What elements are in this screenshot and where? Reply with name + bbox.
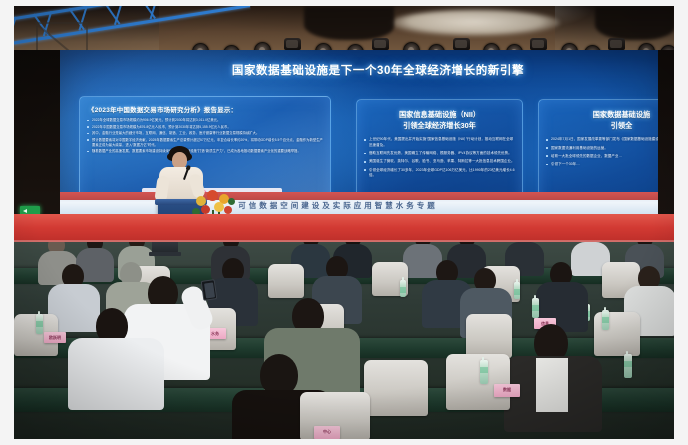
panel-right-title: 国家数据基础设施 引领全: [545, 109, 674, 131]
panel-right-bullets: 2024年7月1日，国家发展改革委等部门发布《国家数据基础设施建设指引》征求意见…: [539, 137, 674, 167]
bullet-item: 其中，金融行业是最大的细分市场，互联网、通信、制造、工业、政务、医疗健康等行业数…: [92, 131, 323, 136]
panel-mid-bullets: 上世纪90年代，美国提出并开始实施“国家信息基础设施（NII）”行动计划，推动互…: [357, 137, 522, 179]
water-bottle: [602, 310, 609, 330]
ceiling-shadow-right: [595, 6, 674, 40]
water-bottle: [532, 298, 539, 318]
laptop: [152, 242, 178, 253]
audience-name-card: 中心: [314, 426, 340, 439]
bullet-item: 借助互联网先发优势，美国确立了传输网络、根服务器、IPV4协议等方面的技术领先优…: [369, 151, 515, 157]
audience-chair: [364, 360, 428, 416]
panel-mid-title: 国家信息基础设施（NII） 引领全球经济增长30年: [363, 109, 516, 131]
slide-title: 国家数据基础设施是下一个30年全球经济增长的新引擎: [178, 62, 578, 78]
water-bottle: [514, 282, 520, 299]
audience-area: 欧跃明 水务 信息: [14, 242, 674, 439]
bullet-item: 上世纪90年代，美国提出并开始实施“国家信息基础设施（NII）”行动计划，推动互…: [369, 137, 515, 148]
bullet-item: 引领下一个30年…: [551, 162, 674, 168]
back-wall-light-patch: [390, 10, 560, 36]
bullet-item: 2022年中国数据交易市场规模为876.8亿元人民币，预计到2030年将达到5,…: [92, 125, 323, 130]
bullet-item: 培育一大批全球领先的数据企业，数据产业…: [551, 154, 674, 160]
audience-name-card: 数据: [494, 384, 520, 397]
name-card-text: 欧跃明: [44, 332, 66, 343]
water-bottle: [624, 354, 632, 378]
bullet-item: 美国诞生了微软、英特尔、谷歌、脸书、亚马逊、苹果、特斯拉等一大批信息技术跨国企业…: [369, 159, 515, 165]
water-bottle: [36, 314, 43, 334]
panel-left-title: 《2023年中国数据交易市场研究分析》报告显示：: [88, 105, 330, 114]
conference-photo: 国家数据基础设施是下一个30年全球经济增长的新引擎 《2023年中国数据交易市场…: [14, 6, 674, 439]
water-bottle: [400, 280, 406, 297]
name-card-text: 中心: [314, 426, 340, 437]
audience-chair: [446, 354, 510, 410]
ceiling-shadow-left: [304, 6, 394, 40]
truss-diagonal: [14, 17, 17, 42]
bullet-item: 2022年全球数据交易市场规模约为906.9亿美元，预计到2030年将达到3,0…: [92, 118, 323, 123]
audience-chair: [268, 264, 304, 298]
water-bottle: [480, 360, 488, 384]
screenshot-root: 国家数据基础设施是下一个30年全球经济增长的新引擎 《2023年中国数据交易市场…: [0, 0, 688, 445]
name-card-text: 数据: [494, 384, 520, 395]
bullet-item: 国家数据流通利用基础设施的运营。: [551, 146, 674, 152]
bullet-item: 引领全球经济增长了30多年，2023年全球GDP达106万亿美元，比1990年的…: [369, 168, 515, 179]
smartphone-camera: [201, 279, 218, 301]
audience-chair: [466, 314, 512, 358]
audience-name-card: 欧跃明: [44, 332, 66, 343]
bullet-item: 2024年7月1日，国家发展改革委等部门发布《国家数据基础设施建设指引》征求意见…: [551, 137, 674, 143]
audience-chair: [594, 312, 640, 356]
